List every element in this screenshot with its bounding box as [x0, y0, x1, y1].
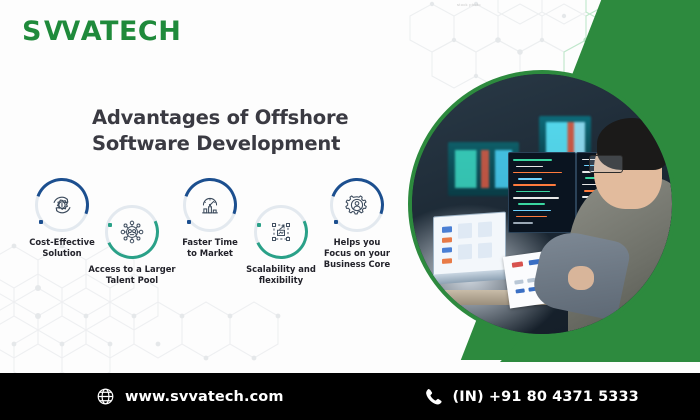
laptop-screen [433, 212, 506, 277]
globe-icon [96, 387, 115, 406]
logo-text-part3: ATECH [81, 16, 182, 47]
headline-line-1: Advantages of Offshore [92, 105, 352, 131]
page-title: Advantages of Offshore Software Developm… [92, 105, 352, 158]
benefit-label-2-line2: Talent Pool [86, 275, 178, 286]
poster-canvas: stock photo [0, 0, 700, 420]
benefit-label-5: Helps you Focus on your Business Core [311, 237, 403, 269]
benefit-label-4-line2: flexibility [235, 275, 327, 286]
person-glasses [589, 155, 623, 173]
logo-text-part1: S [22, 16, 42, 47]
contact-footer-bar: www.svvatech.com (IN) +91 80 4371 5333 [0, 373, 700, 420]
gear-person-icon [330, 178, 384, 232]
people-network-icon [105, 205, 159, 259]
phone-icon [424, 387, 443, 406]
benefit-item-business-core: Helps you Focus on your Business Core [311, 178, 403, 269]
benefit-ring-2 [105, 205, 159, 259]
logo-text-part2: VV [44, 16, 79, 47]
gear-dollar-refresh-icon [35, 178, 89, 232]
benefit-label-5-line1: Helps you [311, 237, 403, 248]
website-text: www.svvatech.com [125, 389, 284, 405]
benefit-ring-3 [183, 178, 237, 232]
website-contact[interactable]: www.svvatech.com [96, 387, 284, 406]
code-monitor-primary [508, 152, 576, 233]
benefit-ring-5 [330, 178, 384, 232]
benefit-label-2: Access to a Larger Talent Pool [86, 264, 178, 286]
company-logo[interactable]: SVVATECH [22, 16, 181, 47]
benefit-label-2-line1: Access to a Larger [86, 264, 178, 275]
stock-photo-watermark: stock photo [457, 2, 481, 7]
scale-resize-icon [254, 205, 308, 259]
developer-workstation-photo [412, 74, 672, 334]
benefit-label-5-line2: Focus on your [311, 248, 403, 259]
benefit-label-5-line3: Business Core [311, 259, 403, 270]
headline-line-2: Software Development [92, 131, 352, 157]
phone-text: (IN) +91 80 4371 5333 [453, 389, 639, 405]
phone-contact[interactable]: (IN) +91 80 4371 5333 [424, 387, 639, 406]
speedometer-chart-icon [183, 178, 237, 232]
hero-photo-circle [408, 70, 676, 338]
benefit-ring-4 [254, 205, 308, 259]
benefit-ring-1 [35, 178, 89, 232]
person-hand [568, 266, 594, 289]
